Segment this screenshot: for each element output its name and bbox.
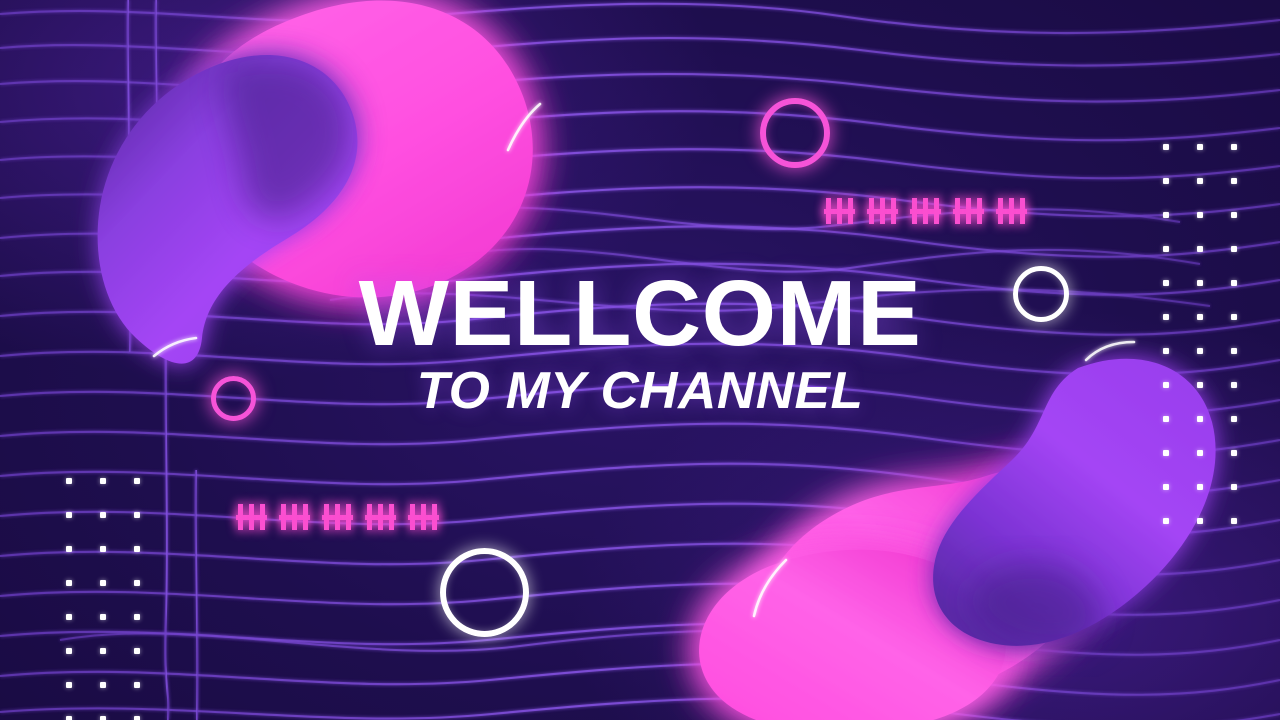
tally-tick	[998, 198, 1003, 224]
page-title: WELLCOME	[0, 268, 1280, 359]
tally-row-upper-right	[824, 198, 1027, 224]
tally-tick	[1020, 198, 1025, 224]
tally-tick	[869, 198, 874, 224]
grid-dot	[134, 546, 140, 552]
grid-dot	[134, 614, 140, 620]
tally-tick	[923, 198, 928, 224]
grid-dot	[134, 648, 140, 654]
grid-dot	[1197, 212, 1203, 218]
tally-mark-group	[408, 504, 439, 530]
tally-tick	[848, 198, 853, 224]
grid-dot	[134, 716, 140, 720]
tally-tick	[249, 504, 254, 530]
grid-dot	[100, 546, 106, 552]
tally-mark-group	[365, 504, 396, 530]
tally-tick	[880, 198, 885, 224]
tally-mark-group	[279, 504, 310, 530]
grid-dot	[134, 478, 140, 484]
grid-dot	[1231, 484, 1237, 490]
grid-dot	[1197, 450, 1203, 456]
ring-white-bottom	[440, 548, 529, 637]
tally-tick	[934, 198, 939, 224]
tally-tick	[389, 504, 394, 530]
headline-block: WELLCOME TO MY CHANNEL	[0, 268, 1280, 417]
tally-mark-group	[910, 198, 941, 224]
tally-tick	[335, 504, 340, 530]
grid-dot	[66, 580, 72, 586]
tally-mark-group	[824, 198, 855, 224]
page-subtitle: TO MY CHANNEL	[0, 365, 1280, 417]
tally-mark-group	[996, 198, 1027, 224]
grid-dot	[1197, 518, 1203, 524]
grid-dot	[66, 716, 72, 720]
tally-tick	[292, 504, 297, 530]
grid-dot	[66, 648, 72, 654]
grid-dot	[1231, 246, 1237, 252]
tally-tick	[826, 198, 831, 224]
tally-mark-group	[236, 504, 267, 530]
tally-tick	[238, 504, 243, 530]
tally-tick	[324, 504, 329, 530]
tally-tick	[346, 504, 351, 530]
grid-dot	[134, 682, 140, 688]
tally-tick	[966, 198, 971, 224]
grid-dot	[1163, 212, 1169, 218]
grid-dot	[100, 478, 106, 484]
grid-dot	[1231, 518, 1237, 524]
grid-dot	[66, 478, 72, 484]
tally-tick	[410, 504, 415, 530]
ring-pink-top-right	[760, 98, 830, 168]
grid-dot	[1231, 450, 1237, 456]
grid-dot	[100, 716, 106, 720]
tally-tick	[260, 504, 265, 530]
tally-tick	[955, 198, 960, 224]
grid-dot	[1231, 178, 1237, 184]
banner-canvas: WELLCOME TO MY CHANNEL	[0, 0, 1280, 720]
grid-dot	[1231, 212, 1237, 218]
dot-grid-left	[66, 478, 140, 720]
grid-dot	[1197, 484, 1203, 490]
grid-dot	[1197, 246, 1203, 252]
grid-dot	[100, 512, 106, 518]
grid-dot	[1163, 246, 1169, 252]
grid-dot	[66, 682, 72, 688]
grid-dot	[1163, 450, 1169, 456]
tally-tick	[378, 504, 383, 530]
grid-dot	[134, 512, 140, 518]
arc-stroke-bottom-left	[754, 560, 786, 616]
arc-stroke-top-left	[508, 104, 540, 150]
tally-mark-group	[953, 198, 984, 224]
tally-tick	[303, 504, 308, 530]
grid-dot	[1231, 144, 1237, 150]
tally-tick	[912, 198, 917, 224]
grid-dot	[1197, 144, 1203, 150]
grid-dot	[1163, 144, 1169, 150]
tally-mark-group	[322, 504, 353, 530]
grid-dot	[134, 580, 140, 586]
grid-dot	[66, 512, 72, 518]
grid-dot	[1163, 484, 1169, 490]
tally-tick	[977, 198, 982, 224]
grid-dot	[100, 614, 106, 620]
grid-dot	[1163, 518, 1169, 524]
grid-dot	[66, 614, 72, 620]
tally-tick	[891, 198, 896, 224]
tally-tick	[421, 504, 426, 530]
tally-tick	[837, 198, 842, 224]
grid-dot	[1163, 178, 1169, 184]
tally-tick	[432, 504, 437, 530]
tally-mark-group	[867, 198, 898, 224]
tally-tick	[367, 504, 372, 530]
grid-dot	[100, 648, 106, 654]
grid-dot	[100, 580, 106, 586]
grid-dot	[100, 682, 106, 688]
grid-dot	[66, 546, 72, 552]
tally-row-lower-left	[236, 504, 439, 530]
tally-tick	[281, 504, 286, 530]
tally-tick	[1009, 198, 1014, 224]
grid-dot	[1197, 178, 1203, 184]
